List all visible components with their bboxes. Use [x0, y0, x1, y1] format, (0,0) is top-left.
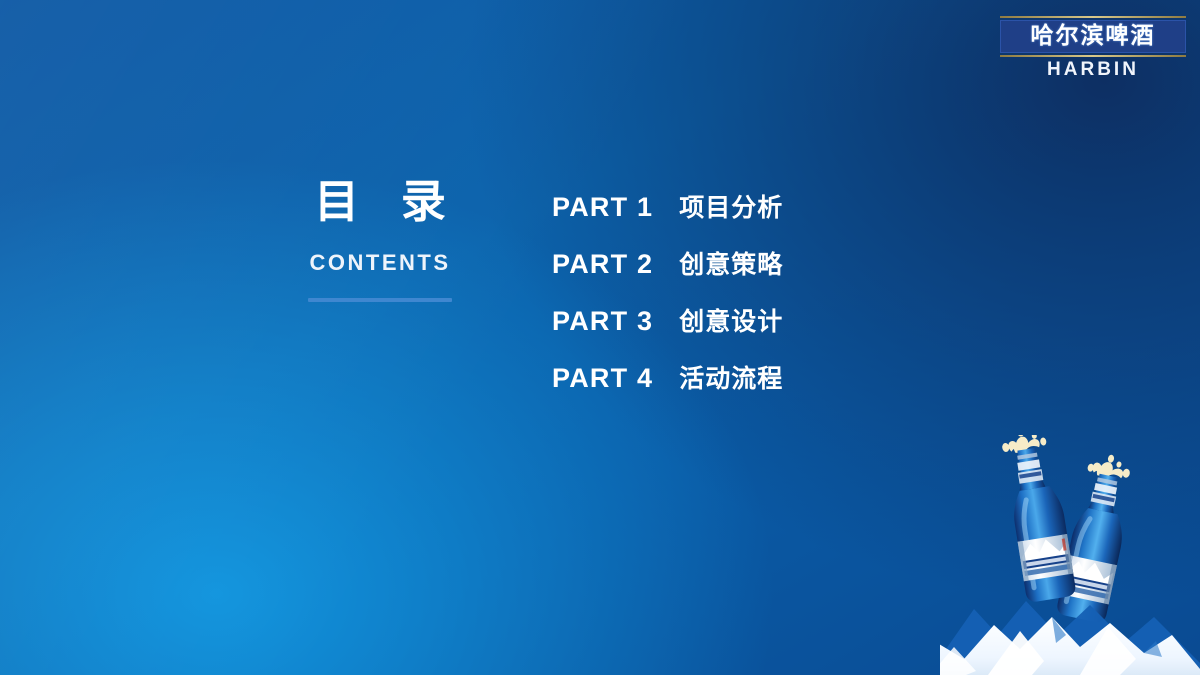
foam-splash	[1086, 450, 1132, 481]
toc-part-label: 创意设计	[679, 302, 783, 338]
beer-bottles-artwork	[940, 435, 1200, 675]
ice-mountains	[940, 601, 1200, 675]
toc-item-part-1[interactable]: PART 1 项目分析	[552, 188, 783, 224]
logo-english-text: HARBIN	[1000, 59, 1186, 81]
beer-bottle-left	[1000, 435, 1077, 603]
toc-item-part-3[interactable]: PART 3 创意设计	[552, 302, 783, 338]
toc-part-number: PART 4	[552, 363, 653, 394]
bottle-label-right	[1060, 555, 1117, 605]
table-of-contents: PART 1 项目分析 PART 2 创意策略 PART 3 创意设计 PART…	[552, 188, 783, 395]
toc-part-number: PART 3	[552, 306, 653, 337]
title-divider	[308, 298, 452, 302]
bottle-label-left	[1018, 534, 1074, 581]
logo-top-rule	[1000, 16, 1186, 18]
toc-part-number: PART 1	[552, 192, 653, 223]
toc-part-label: 活动流程	[679, 359, 783, 395]
page-subtitle: CONTENTS	[255, 250, 505, 276]
toc-item-part-2[interactable]: PART 2 创意策略	[552, 245, 783, 281]
logo-chinese-text: 哈尔滨啤酒	[1007, 24, 1179, 48]
toc-part-label: 创意策略	[679, 245, 783, 281]
logo-box: 哈尔滨啤酒	[1000, 20, 1186, 53]
slide-canvas: 哈尔滨啤酒 HARBIN 目 录 CONTENTS PART 1 项目分析 PA…	[0, 0, 1200, 675]
harbin-beer-logo: 哈尔滨啤酒 HARBIN	[1000, 16, 1186, 81]
page-title: 目 录	[255, 178, 505, 225]
foam-splash	[1000, 435, 1048, 455]
contents-title-block: 目 录 CONTENTS	[255, 178, 505, 302]
toc-part-number: PART 2	[552, 249, 653, 280]
toc-item-part-4[interactable]: PART 4 活动流程	[552, 359, 783, 395]
logo-bottom-rule	[1000, 55, 1186, 57]
beer-bottle-right	[1056, 450, 1140, 624]
toc-part-label: 项目分析	[679, 188, 783, 224]
